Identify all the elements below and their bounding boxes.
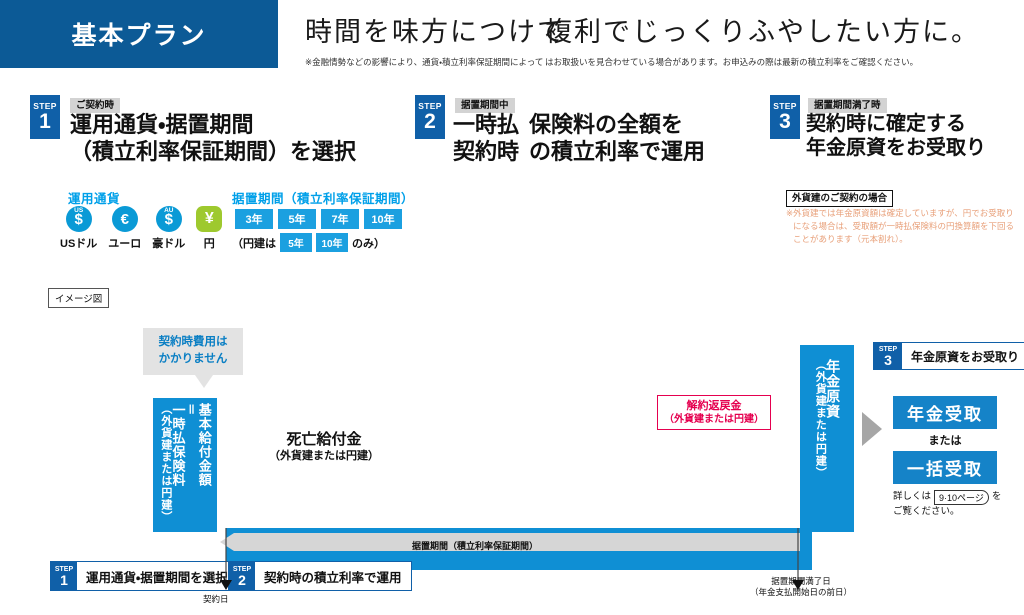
- contract-date-label: 契約日: [203, 594, 229, 605]
- detail-pre: 詳しくは: [893, 490, 931, 504]
- death-benefit-title: 死亡給付金: [269, 431, 379, 450]
- period-yen-option-5y: 5年: [280, 233, 312, 252]
- surrender-value-label: 解約返戻金 （外貨建または円建）: [657, 395, 771, 430]
- basic-benefit-bar: （外貨建または円建） 一時払保険料 ＝ 基本給付金額: [153, 398, 217, 532]
- usd-superscript: US: [74, 207, 83, 214]
- result-step-number: 3: [884, 353, 892, 367]
- header-note-right: はお取扱いを見合わせている場合があります。お申込みの際は最新の積立利率をご確認く…: [545, 56, 980, 68]
- step-3-title-line1: 契約時に確定する: [806, 112, 986, 136]
- step-3-chip: 据置期間満了時: [808, 95, 887, 113]
- contract-date-marker: [218, 528, 238, 594]
- result-arrow-icon: [862, 412, 884, 446]
- period-option-5y[interactable]: 5年: [278, 209, 316, 229]
- currency-name-aud: 豪ドル: [152, 235, 185, 251]
- currency-label: 運用通貨: [68, 188, 120, 208]
- step-2-title-b2: の積立利率で運用: [529, 139, 705, 166]
- step-3-word: STEP: [773, 102, 796, 111]
- payout-options: 年金受取 または 一括受取: [893, 396, 997, 484]
- period-option-3y[interactable]: 3年: [235, 209, 273, 229]
- step-2-title-a2: 契約時: [453, 139, 519, 166]
- death-benefit-sub: （外貨建または円建）: [269, 450, 379, 464]
- foreign-note-line2: になる場合は、受取額が一時払保険料の円換算額を下回る: [786, 220, 1018, 233]
- step-1-title-line2: （積立利率保証期間）を選択: [70, 139, 356, 166]
- pension-principal-v2: （外貨建または円建）: [814, 359, 826, 479]
- header-note-left: ※金融情勢などの影響により、通貨・積立利率保証期間によって: [305, 56, 566, 68]
- detail-mid: を: [992, 490, 1002, 504]
- detail-post: ご覧ください。: [893, 505, 1018, 519]
- basic-benefit-v2: ＝: [184, 403, 197, 523]
- basic-benefit-v1: 基本給付金額: [197, 403, 211, 523]
- bottom-step-2[interactable]: STEP 2 契約時の積立利率で運用: [228, 561, 412, 591]
- basic-benefit-v4: （外貨建または円建）: [159, 403, 171, 523]
- result-detail-note: 詳しくは 9·10ページ を ご覧ください。: [893, 490, 1018, 519]
- step-3-title: 契約時に確定する 年金原資をお受取り: [806, 112, 986, 161]
- step-1-chip: ご契約時: [70, 95, 120, 113]
- step-3-title-line2: 年金原資をお受取り: [806, 136, 986, 160]
- period-yen-note: （円建は 5年 10年 のみ）: [232, 233, 385, 252]
- headline-left: 時間を味方につけて: [305, 10, 566, 49]
- step-1-word: STEP: [33, 102, 56, 111]
- foreign-note-text: ※外貨建では年金原資額は確定していますが、円でお受取り になる場合は、受取額が一…: [786, 207, 1018, 245]
- period-options: 3年 5年 7年 10年: [235, 209, 402, 229]
- period-label: 据置期間（積立利率保証期間）: [232, 188, 414, 208]
- detail-page-chip[interactable]: 9·10ページ: [934, 490, 989, 505]
- step-1-title: 運用通貨・据置期間 （積立利率保証期間）を選択: [70, 112, 356, 166]
- step-1-title-line1: 運用通貨・据置期間: [70, 112, 356, 139]
- period-yen-option-10y: 10年: [316, 233, 348, 252]
- accumulation-title: 積立金: [520, 432, 640, 463]
- step-2-word: STEP: [418, 102, 441, 111]
- payout-or-text: または: [893, 432, 997, 448]
- bottom-step-1-label: 運用通貨・据置期間を選択: [77, 562, 237, 590]
- currency-name-eur: ユーロ: [108, 235, 141, 251]
- step-1-badge: STEP 1: [30, 95, 60, 139]
- step-2-badge: STEP 2: [415, 95, 445, 139]
- step-2-number: 2: [424, 111, 436, 132]
- currency-option-usd[interactable]: US $ USドル: [60, 206, 97, 251]
- headline-left-group: 時間を味方につけて ※金融情勢などの影響により、通貨・積立利率保証期間によって: [305, 10, 566, 68]
- death-benefit-label: 死亡給付金 （外貨建または円建）: [262, 428, 386, 467]
- foreign-note-line1: ※外貨建では年金原資額は確定していますが、円でお受取り: [786, 207, 1018, 220]
- aud-superscript: AU: [164, 207, 173, 214]
- payout-option-annuity[interactable]: 年金受取: [893, 396, 997, 429]
- eur-symbol-icon: €: [121, 212, 129, 227]
- period-option-7y[interactable]: 7年: [321, 209, 359, 229]
- headline-right: 複利でじっくりふやしたい方に。: [545, 10, 980, 49]
- bottom-step-2-label: 契約時の積立利率で運用: [255, 562, 411, 590]
- maturity-line2: （年金支払開始日の前日）: [726, 587, 876, 598]
- foreign-note-title: 外貨建のご契約の場合: [786, 190, 893, 207]
- headline-right-group: 複利でじっくりふやしたい方に。 はお取扱いを見合わせている場合があります。お申込…: [545, 10, 980, 68]
- maturity-date-label: 据置期間満了日 （年金支払開始日の前日）: [726, 576, 876, 599]
- step-2-title-b1: 保険料の全額を: [529, 112, 705, 139]
- step-3-badge: STEP 3: [770, 95, 800, 139]
- period-yen-suffix: のみ）: [352, 235, 385, 251]
- foreign-note-box: 外貨建のご契約の場合: [786, 188, 893, 207]
- currency-option-aud[interactable]: AU $ 豪ドル: [152, 206, 185, 251]
- bottom-step-2-number: 2: [238, 573, 246, 587]
- jpy-symbol-icon: ¥: [205, 211, 214, 227]
- result-step-label: 年金原資をお受取り: [902, 343, 1024, 369]
- currency-name-usd: USドル: [60, 235, 97, 251]
- step-2-title-a1: 一時払: [453, 112, 519, 139]
- period-option-10y[interactable]: 10年: [364, 209, 402, 229]
- period-yen-prefix: （円建は: [232, 235, 276, 251]
- accumulation-label: 積立金 （外貨建または円建）: [520, 432, 640, 480]
- step-2-title: 一時払 契約時 保険料の全額を の積立利率で運用: [453, 112, 705, 166]
- plan-title: 基本プラン: [0, 0, 278, 68]
- currency-option-eur[interactable]: € ユーロ: [108, 206, 141, 251]
- period-band-label: 据置期間（積立利率保証期間）: [412, 536, 538, 554]
- surrender-sub: （外貨建または円建）: [664, 413, 764, 426]
- step-2-chip: 据置期間中: [455, 95, 515, 113]
- currency-name-jpy: 円: [196, 235, 222, 251]
- bottom-step-1-number: 1: [60, 573, 68, 587]
- step-3-number: 3: [779, 111, 791, 132]
- step-1-number: 1: [39, 111, 51, 132]
- currency-options: US $ USドル € ユーロ AU $ 豪ドル ¥ 円: [60, 206, 222, 251]
- result-step-3: STEP 3 年金原資をお受取り: [873, 342, 1024, 370]
- payout-option-lumpsum[interactable]: 一括受取: [893, 451, 997, 484]
- pension-principal-bar: （外貨建または円建） 年金原資: [800, 345, 854, 532]
- maturity-line1: 据置期間満了日: [726, 576, 876, 587]
- basic-benefit-v3: 一時払保険料: [171, 403, 185, 523]
- bottom-step-1[interactable]: STEP 1 運用通貨・据置期間を選択: [50, 561, 238, 591]
- foreign-note-line3: ことがあります（元本割れ）。: [786, 233, 1018, 246]
- pension-principal-v1: 年金原資: [825, 359, 840, 479]
- currency-option-jpy[interactable]: ¥ 円: [196, 206, 222, 251]
- accumulation-sub: （外貨建または円建）: [520, 465, 640, 479]
- surrender-title: 解約返戻金: [664, 399, 764, 413]
